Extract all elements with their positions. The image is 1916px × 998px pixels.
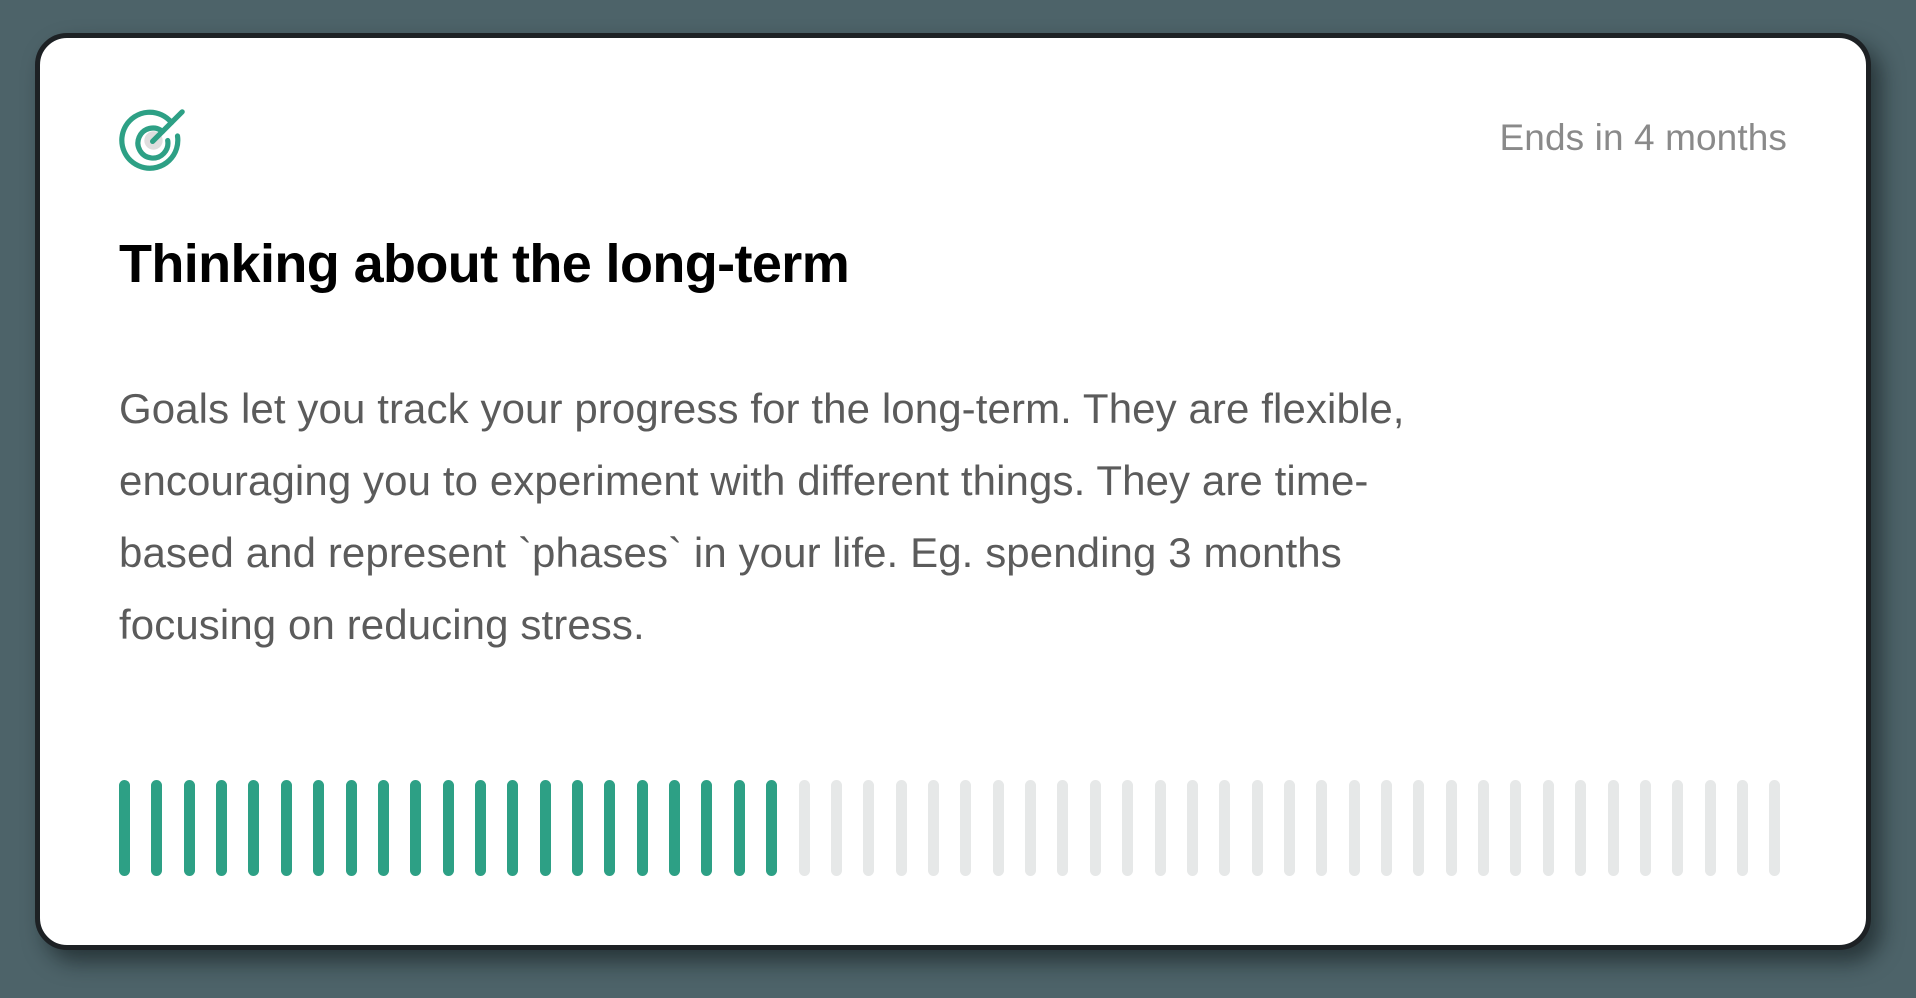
progress-segment-filled bbox=[248, 780, 259, 876]
progress-segment-empty bbox=[1219, 780, 1230, 876]
progress-segment-empty bbox=[1122, 780, 1133, 876]
progress-segment-empty bbox=[1316, 780, 1327, 876]
progress-segment-empty bbox=[863, 780, 874, 876]
page-title: Thinking about the long-term bbox=[119, 235, 849, 293]
progress-segment-filled bbox=[669, 780, 680, 876]
goal-end-label: Ends in 4 months bbox=[1500, 119, 1787, 156]
progress-segment-empty bbox=[1349, 780, 1360, 876]
progress-segment-filled bbox=[572, 780, 583, 876]
progress-segment-empty bbox=[1446, 780, 1457, 876]
progress-segment-empty bbox=[1705, 780, 1716, 876]
goal-card[interactable]: Ends in 4 months Thinking about the long… bbox=[35, 33, 1871, 950]
progress-segment-filled bbox=[734, 780, 745, 876]
progress-segment-filled bbox=[540, 780, 551, 876]
progress-segment-filled bbox=[346, 780, 357, 876]
goal-progress-bar[interactable] bbox=[119, 778, 1781, 878]
progress-segment-empty bbox=[831, 780, 842, 876]
progress-segment-empty bbox=[799, 780, 810, 876]
progress-segment-filled bbox=[281, 780, 292, 876]
progress-segment-filled bbox=[184, 780, 195, 876]
progress-segment-filled bbox=[507, 780, 518, 876]
progress-segment-empty bbox=[1252, 780, 1263, 876]
progress-segment-empty bbox=[1155, 780, 1166, 876]
progress-segment-filled bbox=[766, 780, 777, 876]
progress-segment-filled bbox=[119, 780, 130, 876]
progress-segment-empty bbox=[1381, 780, 1392, 876]
card-header: Ends in 4 months bbox=[119, 98, 1787, 176]
progress-segment-empty bbox=[1737, 780, 1748, 876]
goal-target-icon bbox=[119, 102, 189, 172]
progress-segment-empty bbox=[1025, 780, 1036, 876]
progress-segment-empty bbox=[928, 780, 939, 876]
progress-segment-filled bbox=[378, 780, 389, 876]
progress-segment-empty bbox=[1608, 780, 1619, 876]
progress-segment-empty bbox=[1090, 780, 1101, 876]
progress-segment-empty bbox=[1187, 780, 1198, 876]
progress-segment-empty bbox=[1769, 780, 1780, 876]
progress-segment-empty bbox=[896, 780, 907, 876]
progress-segment-empty bbox=[1640, 780, 1651, 876]
progress-segment-empty bbox=[1672, 780, 1683, 876]
progress-segment-filled bbox=[216, 780, 227, 876]
progress-segment-filled bbox=[604, 780, 615, 876]
progress-segment-empty bbox=[1478, 780, 1489, 876]
progress-segment-filled bbox=[475, 780, 486, 876]
progress-segment-filled bbox=[701, 780, 712, 876]
progress-segment-filled bbox=[443, 780, 454, 876]
screen-root: Ends in 4 months Thinking about the long… bbox=[0, 0, 1916, 998]
progress-segment-empty bbox=[1510, 780, 1521, 876]
progress-segment-filled bbox=[151, 780, 162, 876]
progress-segment-empty bbox=[1575, 780, 1586, 876]
progress-segment-empty bbox=[1543, 780, 1554, 876]
progress-segment-filled bbox=[410, 780, 421, 876]
progress-segment-filled bbox=[313, 780, 324, 876]
progress-segment-empty bbox=[1284, 780, 1295, 876]
progress-segment-empty bbox=[960, 780, 971, 876]
progress-segment-empty bbox=[1057, 780, 1068, 876]
progress-segment-empty bbox=[993, 780, 1004, 876]
progress-segment-empty bbox=[1413, 780, 1424, 876]
goal-description: Goals let you track your progress for th… bbox=[119, 373, 1439, 661]
progress-segment-filled bbox=[637, 780, 648, 876]
